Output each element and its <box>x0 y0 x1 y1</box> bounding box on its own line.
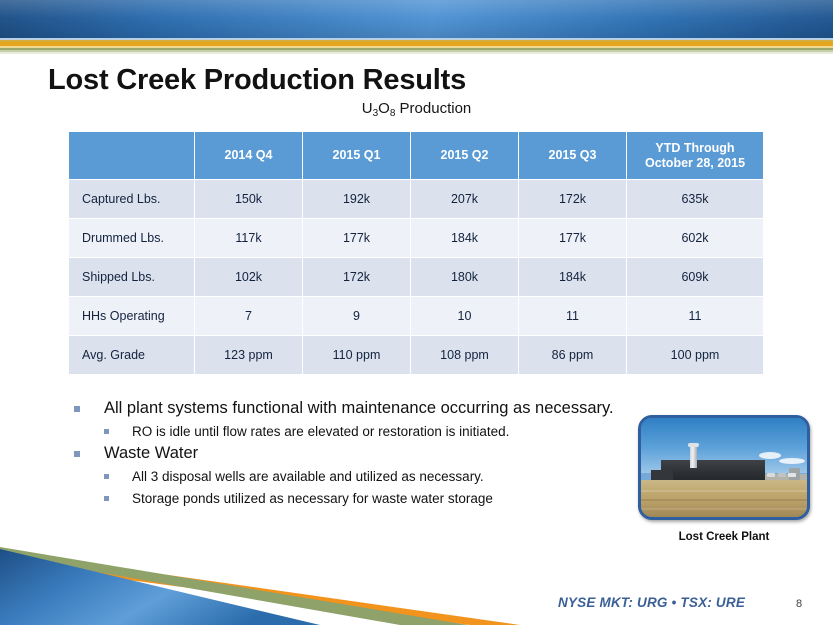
photo-cloud <box>759 452 781 459</box>
square-bullet-icon <box>74 406 80 412</box>
deco-blue-wedge <box>0 549 320 625</box>
photo-cloud <box>779 458 805 464</box>
table-row: Avg. Grade 123 ppm 110 ppm 108 ppm 86 pp… <box>69 336 764 375</box>
photo-grass-streak <box>641 499 807 501</box>
cell-drummed-ytd: 602k <box>627 219 764 258</box>
cell-drummed-2015q2: 184k <box>411 219 519 258</box>
photo-vehicle <box>788 473 796 477</box>
photo-plant-building <box>661 460 765 482</box>
cell-grade-2014q4: 123 ppm <box>195 336 303 375</box>
cell-grade-ytd: 100 ppm <box>627 336 764 375</box>
cell-hhs-2014q4: 7 <box>195 297 303 336</box>
row-label-hhs-operating: HHs Operating <box>69 297 195 336</box>
bullet-item-level2: All 3 disposal wells are available and u… <box>72 467 617 486</box>
cell-grade-2015q3: 86 ppm <box>519 336 627 375</box>
subtitle-word-production: Production <box>395 100 471 117</box>
photo-smokestack-cap <box>688 443 699 447</box>
cell-grade-2015q1: 110 ppm <box>303 336 411 375</box>
photo-vehicle <box>778 473 786 477</box>
bullet-text: All plant systems functional with mainte… <box>104 399 614 417</box>
plant-photo <box>638 415 810 520</box>
page-number: 8 <box>796 598 802 610</box>
page-title: Lost Creek Production Results <box>48 64 466 97</box>
table-header-ytd: YTD Through October 28, 2015 <box>627 132 764 180</box>
row-label-captured: Captured Lbs. <box>69 180 195 219</box>
table-header-2015q3: 2015 Q3 <box>519 132 627 180</box>
cell-hhs-2015q1: 9 <box>303 297 411 336</box>
bullet-item-level1: All plant systems functional with mainte… <box>72 398 617 419</box>
row-label-drummed: Drummed Lbs. <box>69 219 195 258</box>
table-row: Captured Lbs. 150k 192k 207k 172k 635k <box>69 180 764 219</box>
subtitle-sub-3: 3 <box>373 108 379 119</box>
bullet-item-level1: Waste Water <box>72 443 617 464</box>
table-header: 2014 Q4 2015 Q1 2015 Q2 2015 Q3 YTD Thro… <box>69 132 764 180</box>
cell-captured-2014q4: 150k <box>195 180 303 219</box>
subtitle-sub-8: 8 <box>390 108 396 119</box>
square-bullet-icon <box>104 474 109 479</box>
page-subtitle: U3O8 Production <box>0 100 833 117</box>
bullet-item-level2: Storage ponds utilized as necessary for … <box>72 489 617 508</box>
cell-hhs-2015q3: 11 <box>519 297 627 336</box>
table-row: HHs Operating 7 9 10 11 11 <box>69 297 764 336</box>
deco-olive-stripe <box>0 547 468 625</box>
cell-shipped-2015q2: 180k <box>411 258 519 297</box>
cell-hhs-ytd: 11 <box>627 297 764 336</box>
cell-captured-2015q2: 207k <box>411 180 519 219</box>
table-row: Drummed Lbs. 117k 177k 184k 177k 602k <box>69 219 764 258</box>
table-row: Shipped Lbs. 102k 172k 180k 184k 609k <box>69 258 764 297</box>
square-bullet-icon <box>104 429 109 434</box>
table-body: Captured Lbs. 150k 192k 207k 172k 635k D… <box>69 180 764 375</box>
banner-stripe-pale <box>0 52 833 54</box>
plant-photo-frame <box>638 415 810 520</box>
table-header-2015q1: 2015 Q1 <box>303 132 411 180</box>
subtitle-u: U <box>362 100 373 117</box>
plant-photo-caption: Lost Creek Plant <box>638 531 810 543</box>
bullet-text: RO is idle until flow rates are elevated… <box>132 424 509 439</box>
cell-shipped-ytd: 609k <box>627 258 764 297</box>
cell-captured-ytd: 635k <box>627 180 764 219</box>
cell-shipped-2014q4: 102k <box>195 258 303 297</box>
ytd-line-1: YTD Through <box>655 141 734 155</box>
square-bullet-icon <box>104 496 109 501</box>
table-header-row: 2014 Q4 2015 Q1 2015 Q2 2015 Q3 YTD Thro… <box>69 132 764 180</box>
bottom-left-decoration <box>0 525 520 625</box>
cell-shipped-2015q1: 172k <box>303 258 411 297</box>
photo-grass-streak <box>641 508 807 510</box>
bullet-item-level2: RO is idle until flow rates are elevated… <box>72 422 617 441</box>
row-label-shipped: Shipped Lbs. <box>69 258 195 297</box>
footer-ticker: NYSE MKT: URG • TSX: URE <box>558 595 745 610</box>
cell-drummed-2014q4: 117k <box>195 219 303 258</box>
table-header-2014q4: 2014 Q4 <box>195 132 303 180</box>
cell-grade-2015q2: 108 ppm <box>411 336 519 375</box>
cell-shipped-2015q3: 184k <box>519 258 627 297</box>
cell-hhs-2015q2: 10 <box>411 297 519 336</box>
photo-grass-streak <box>641 490 807 492</box>
bullet-list: All plant systems functional with mainte… <box>72 398 617 510</box>
photo-smokestack <box>690 446 697 468</box>
cell-drummed-2015q3: 177k <box>519 219 627 258</box>
square-bullet-icon <box>74 451 80 457</box>
bullet-text: Storage ponds utilized as necessary for … <box>132 491 493 506</box>
row-label-avg-grade: Avg. Grade <box>69 336 195 375</box>
banner-sheen <box>0 0 833 38</box>
ytd-line-2: October 28, 2015 <box>645 156 745 170</box>
cell-captured-2015q1: 192k <box>303 180 411 219</box>
cell-captured-2015q3: 172k <box>519 180 627 219</box>
photo-vehicle <box>767 473 775 477</box>
production-table: 2014 Q4 2015 Q1 2015 Q2 2015 Q3 YTD Thro… <box>68 131 764 375</box>
bullet-text: All 3 disposal wells are available and u… <box>132 469 484 484</box>
cell-drummed-2015q1: 177k <box>303 219 411 258</box>
subtitle-o: O <box>378 100 390 117</box>
top-banner <box>0 0 833 38</box>
bullet-text: Waste Water <box>104 444 198 462</box>
deco-orange-stripe <box>0 551 520 625</box>
table-header-corner <box>69 132 195 180</box>
table-header-2015q2: 2015 Q2 <box>411 132 519 180</box>
slide-canvas: Lost Creek Production Results U3O8 Produ… <box>0 0 833 625</box>
